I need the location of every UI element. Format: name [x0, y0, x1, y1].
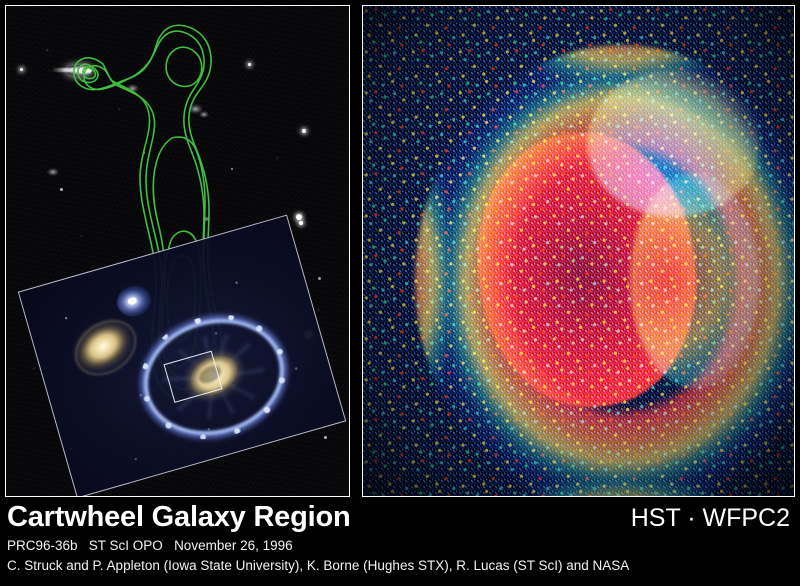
false-color-image [363, 6, 794, 496]
false-color-vignette [363, 6, 794, 496]
page-title: Cartwheel Galaxy Region [7, 500, 351, 534]
left-image-panel [5, 5, 350, 497]
left-panel-inner [6, 6, 349, 496]
contour-level-3-upper-loop [166, 47, 202, 86]
caption-bar: Cartwheel Galaxy Region HST · WFPC2 PRC9… [0, 497, 800, 586]
right-image-panel [362, 5, 795, 497]
poster-root: Cartwheel Galaxy Region HST · WFPC2 PRC9… [0, 0, 800, 586]
instrument-label: HST · WFPC2 [631, 503, 790, 533]
right-panel-inner [363, 6, 794, 496]
credit-line: C. Struck and P. Appleton (Iowa State Un… [7, 558, 629, 574]
release-meta-line: PRC96-36b ST ScI OPO November 26, 1996 [7, 538, 293, 554]
